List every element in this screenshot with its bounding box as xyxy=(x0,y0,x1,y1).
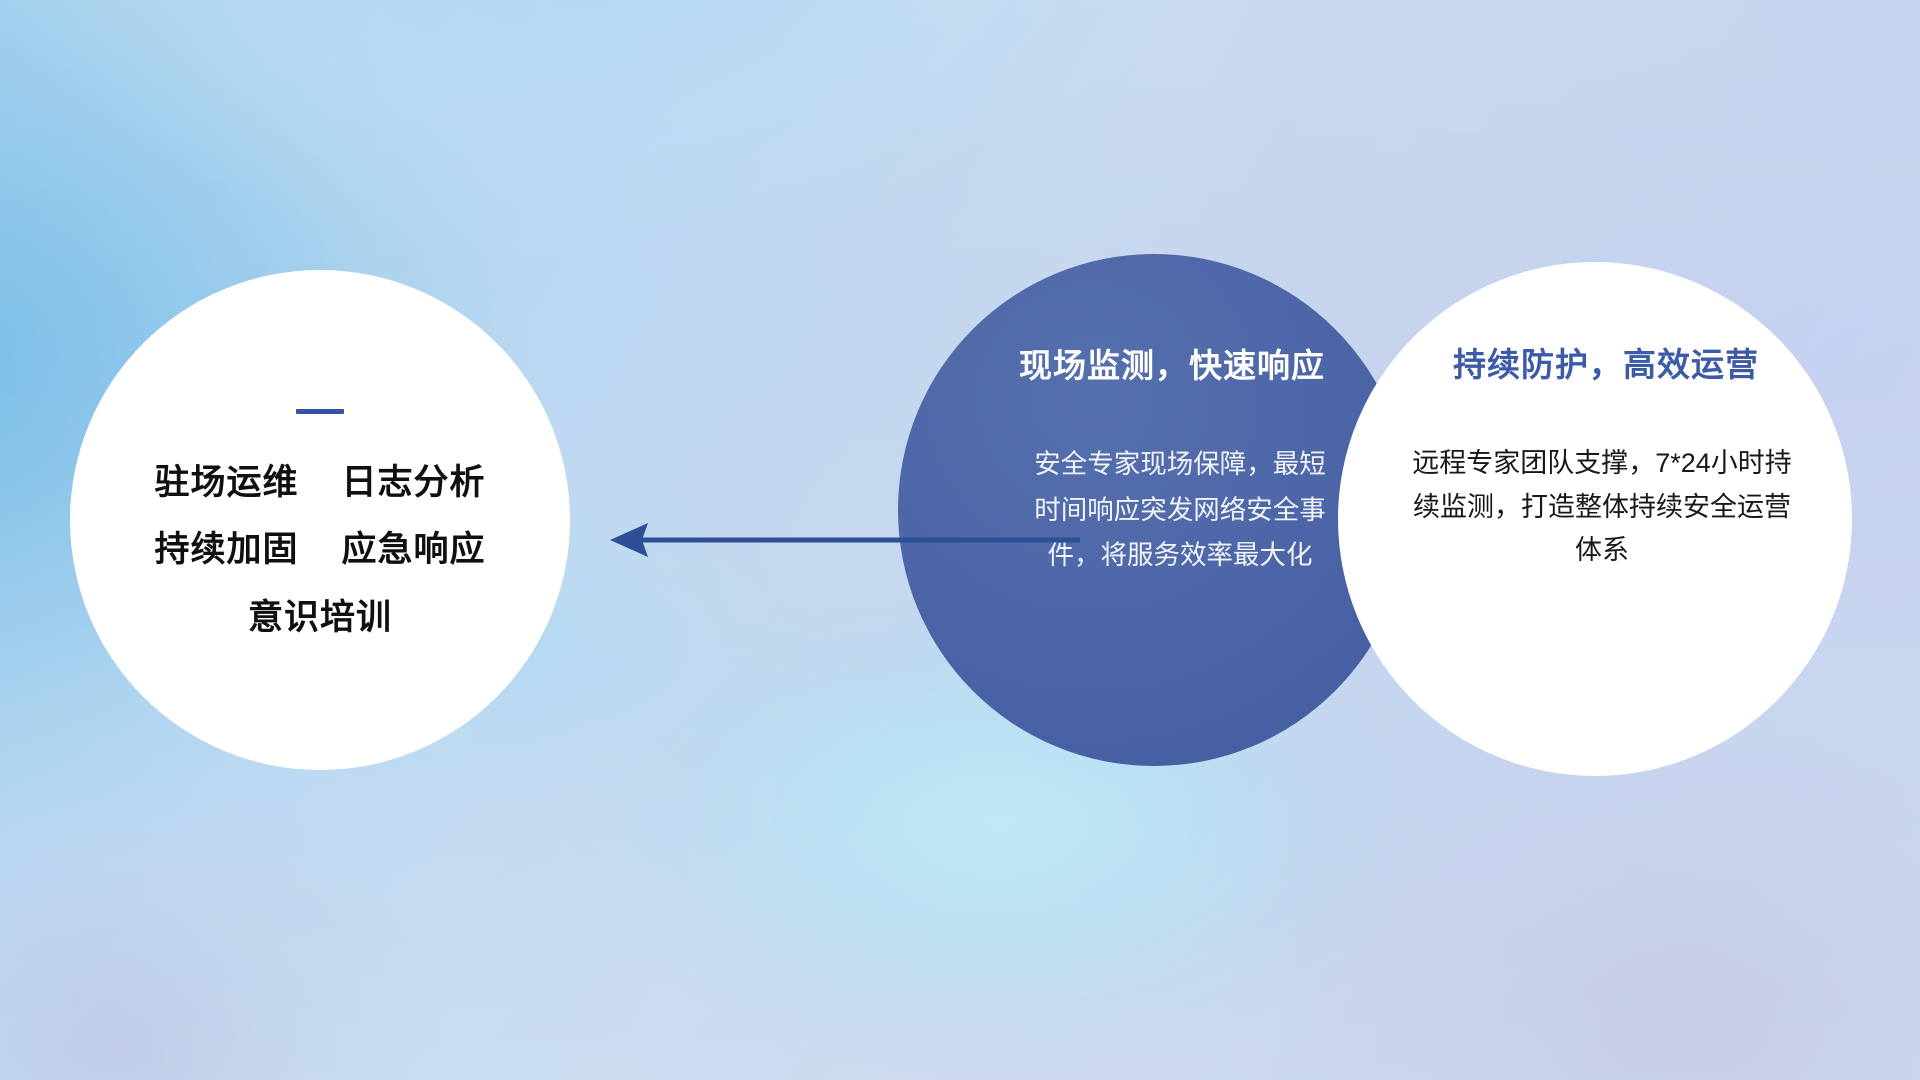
on-site-capability-content: 驻场运维 日志分析 持续加固 应急响应 意识培训 xyxy=(70,270,570,770)
on-site-monitoring-circle: 现场监测，快速响应 安全专家现场保障，最短时间响应突发网络安全事件，将服务效率最… xyxy=(898,254,1410,766)
on-site-capability-circle: 驻场运维 日志分析 持续加固 应急响应 意识培训 xyxy=(70,270,570,770)
protection-heading: 持续防护，高效运营 xyxy=(1453,338,1759,386)
capability-line: 持续加固 应急响应 xyxy=(155,531,486,570)
monitoring-heading: 现场监测，快速响应 xyxy=(1019,339,1325,387)
capability-line: 意识培训 xyxy=(248,599,392,638)
protection-body-text: 远程专家团队支撑，7*24小时持续监测，打造整体持续安全运营体系 xyxy=(1406,442,1798,573)
left-pointing-arrow-icon xyxy=(604,520,1082,560)
slide-canvas: 驻场运维 日志分析 持续加固 应急响应 意识培训 现场监测，快速响应 安全专家现… xyxy=(0,0,1920,1080)
continuous-protection-content: 持续防护，高效运营 远程专家团队支撑，7*24小时持续监测，打造整体持续安全运营… xyxy=(1338,262,1852,776)
capability-line: 驻场运维 日志分析 xyxy=(155,464,486,503)
divider-dash-icon xyxy=(296,409,344,414)
continuous-protection-circle: 持续防护，高效运营 远程专家团队支撑，7*24小时持续监测，打造整体持续安全运营… xyxy=(1338,262,1852,776)
monitoring-content: 现场监测，快速响应 安全专家现场保障，最短时间响应突发网络安全事件，将服务效率最… xyxy=(898,254,1410,766)
capability-list: 驻场运维 日志分析 持续加固 应急响应 意识培训 xyxy=(155,464,486,638)
